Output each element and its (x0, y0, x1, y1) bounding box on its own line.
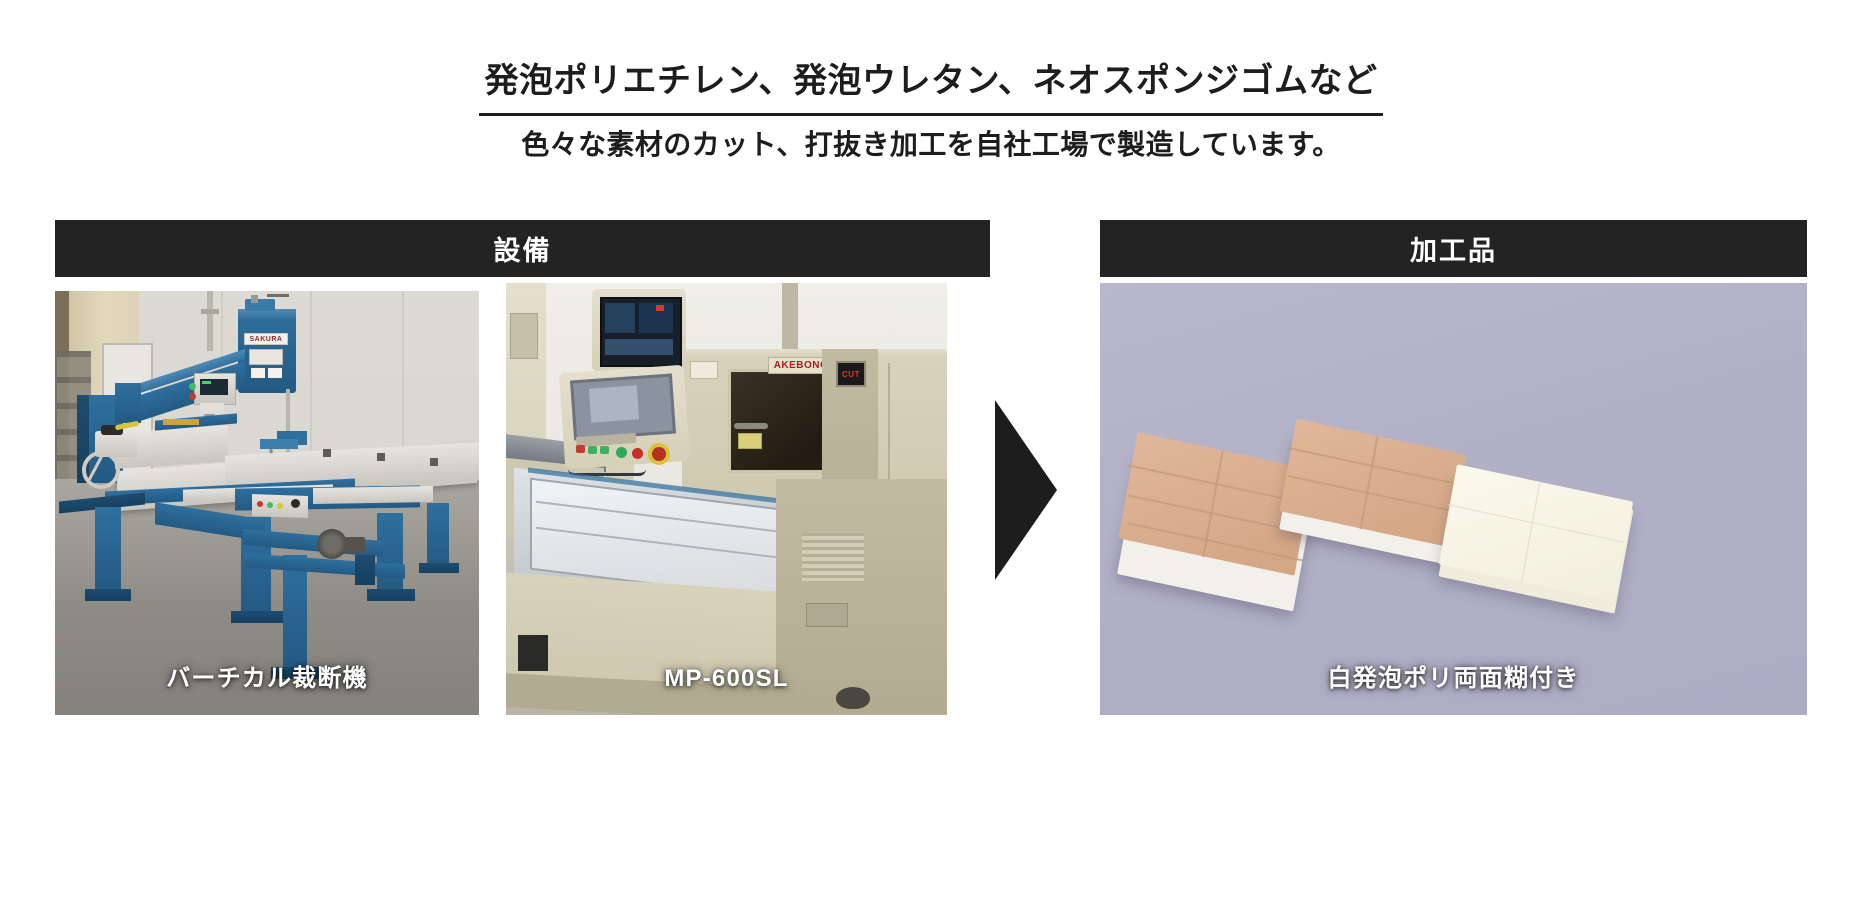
right-triangle-arrow-icon (995, 400, 1057, 580)
machine-foot (85, 589, 131, 601)
photo-foam-pads: 白発泡ポリ両面糊付き (1100, 283, 1807, 715)
caution-stripe (163, 419, 199, 425)
pendant-stop-button[interactable] (632, 448, 643, 459)
table-stop (430, 458, 438, 466)
machine-spec-plate (690, 361, 718, 379)
blade-carrier (260, 439, 298, 449)
pendant-screen-content (589, 385, 639, 422)
ceiling-pipe (207, 291, 213, 351)
ventilation-louvers (802, 533, 864, 581)
photo-vertical-cutter: SAKURA (55, 291, 479, 715)
operator-button-red[interactable] (257, 501, 263, 507)
table-stop (323, 449, 331, 457)
warning-sticker (268, 368, 282, 378)
stop-button[interactable] (189, 393, 196, 400)
emergency-stop-button[interactable] (648, 443, 670, 465)
display-readout (202, 381, 211, 384)
page-heading: 発泡ポリエチレン、発泡ウレタン、ネオスポンジゴムなど 色々な素材のカット、打抜き… (0, 60, 1862, 162)
cut-indicator-badge: CUT (836, 361, 866, 387)
frame-upright (355, 555, 375, 585)
machine-foot (367, 589, 415, 601)
page-title: 発泡ポリエチレン、発泡ウレタン、ネオスポンジゴムなど (479, 60, 1384, 116)
machine-leg-front (283, 555, 307, 673)
photo-vertical-cutter-caption: バーチカル裁断機 (55, 658, 479, 693)
section-header-product-label: 加工品 (1410, 229, 1497, 268)
saw-column-joint (115, 383, 141, 423)
operator-button-green[interactable] (267, 502, 273, 508)
pendant-start-button[interactable] (616, 447, 627, 458)
machine-foot (231, 611, 283, 623)
machine-foot (419, 563, 459, 573)
clamp-bar (313, 486, 433, 504)
window-handle[interactable] (734, 423, 768, 429)
pendant-button-green[interactable] (588, 446, 597, 454)
machine-leg (95, 507, 121, 593)
page-subtitle: 色々な素材のカット、打抜き加工を自社工場で製造しています。 (479, 116, 1384, 162)
caution-label (738, 433, 762, 449)
screen-alarm (656, 305, 664, 311)
section-header-equipment: 設備 (55, 220, 990, 277)
screen-region-left (605, 303, 635, 333)
operator-button-yellow[interactable] (277, 503, 283, 509)
motor-housing (345, 537, 365, 553)
photo-foam-pads-caption: 白発泡ポリ両面糊付き (1100, 658, 1807, 693)
screen-toolbar (605, 339, 673, 355)
background-panel (510, 313, 538, 359)
photo-mp-600sl: AKEBONO CUT MP-600SL (506, 283, 947, 715)
start-button[interactable] (189, 383, 196, 390)
warning-sticker (251, 368, 265, 378)
saw-head-bolt (251, 295, 258, 303)
pipe-flange (201, 309, 219, 314)
operator-selector[interactable] (291, 499, 300, 508)
photo-mp-600sl-caption: MP-600SL (506, 665, 947, 693)
pendant-button-green[interactable] (600, 446, 609, 454)
table-stop (377, 453, 385, 461)
nameplate-label (249, 349, 283, 365)
wall-panel-seam (310, 291, 312, 477)
drive-motor (317, 529, 347, 559)
machine-nameplate: SAKURA (244, 333, 288, 345)
saw-head-cap (245, 299, 275, 311)
access-hatch (806, 603, 848, 627)
pendant-button-red[interactable] (576, 445, 585, 453)
section-header-equipment-label: 設備 (494, 229, 552, 268)
section-header-product: 加工品 (1100, 220, 1807, 277)
machine-leg (427, 503, 449, 569)
saw-cable (267, 294, 289, 297)
heading-inner: 発泡ポリエチレン、発泡ウレタン、ネオスポンジゴムなど 色々な素材のカット、打抜き… (479, 60, 1384, 162)
